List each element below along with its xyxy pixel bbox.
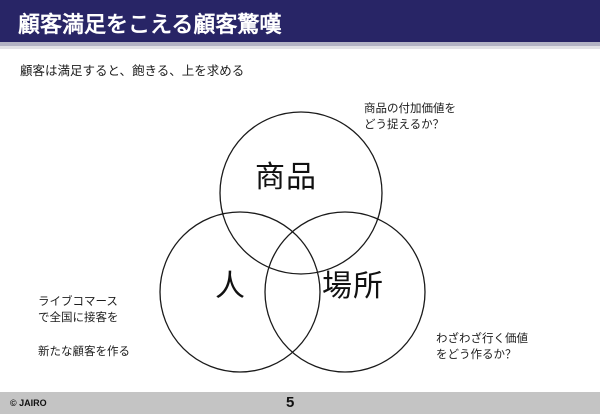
slide-subtitle: 顧客は満足すると、飽きる、上を求める [20, 60, 244, 79]
header-underline-secondary [0, 46, 600, 49]
slide-title: 顧客満足をこえる顧客驚嘆 [18, 7, 281, 39]
annotation-place: わざわざ行く価値 をどう作るか？ [436, 331, 528, 364]
venn-label-product: 商品 [255, 152, 317, 196]
annotation-place-line1: わざわざ行く価値 [436, 331, 528, 347]
footer-copyright: © JAIRO [10, 398, 47, 408]
slide-canvas: 顧客満足をこえる顧客驚嘆 顧客は満足すると、飽きる、上を求める 商品 人 場所 … [0, 0, 600, 414]
annotation-people-line3: 新たな顧客を作る [38, 344, 130, 360]
venn-label-people: 人 [215, 261, 246, 305]
annotation-people-secondary: 新たな顧客を作る [38, 344, 130, 360]
annotation-people: ライブコマース で全国に接客を [38, 294, 119, 327]
annotation-product: 商品の付加価値を どう捉えるか？ [364, 101, 456, 134]
footer-page-number: 5 [286, 394, 294, 411]
annotation-product-line1: 商品の付加価値を [364, 101, 456, 117]
annotation-people-line1: ライブコマース [38, 294, 119, 310]
slide-footer-bar [0, 392, 600, 414]
annotation-product-line2: どう捉えるか？ [364, 117, 456, 133]
annotation-people-line2: で全国に接客を [38, 310, 119, 326]
annotation-place-line2: をどう作るか？ [436, 347, 528, 363]
venn-label-place: 場所 [322, 261, 384, 305]
